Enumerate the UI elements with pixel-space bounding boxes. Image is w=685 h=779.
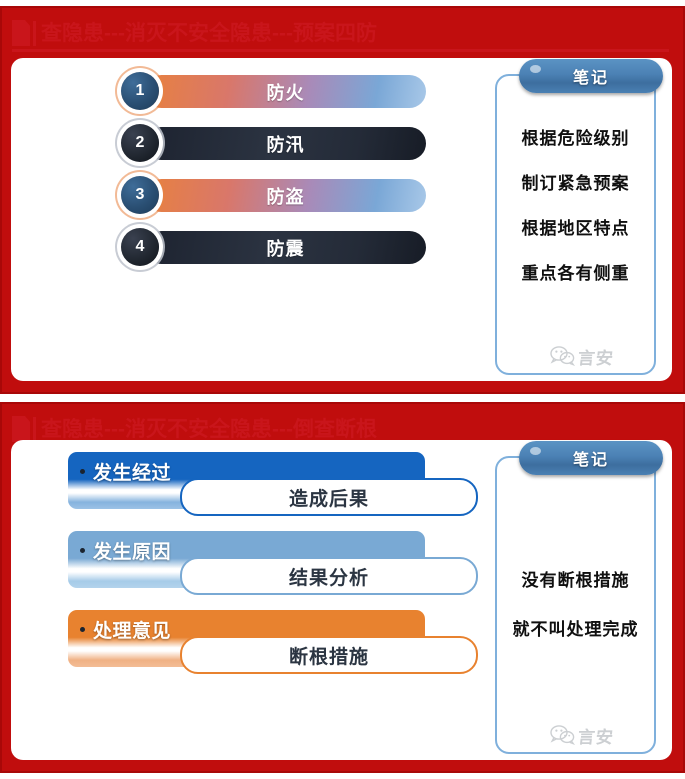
list-item[interactable]: 发生经过 造成后果 [68,452,478,520]
slide-1-title-row: 查隐患---消灭不安全隐患---预案四防 [12,16,669,50]
watermark-text: 言安 [577,723,616,748]
slide-1-content-card: 防火 1 防汛 2 防盗 3 [11,58,672,381]
item-front-pill[interactable]: 造成后果 [180,478,478,516]
notes-header-label: 笔记 [573,64,609,88]
title-divider-bar [33,417,36,442]
slide-2-title: 查隐患---消灭不安全隐患---倒查断根 [41,419,377,440]
list-item[interactable]: 处理意见 断根措施 [68,610,478,678]
notes-header-label: 笔记 [573,446,609,470]
item-pill: 防火 [145,75,426,108]
slide-deck-image: 查隐患---消灭不安全隐患---预案四防 防火 1 防汛 2 [0,0,685,779]
slide-2-notes-panel: 笔记 没有断根措施 就不叫处理完成 [495,456,656,754]
title-divider-bar [33,21,36,46]
list-item[interactable]: 防火 1 [121,72,426,110]
list-item[interactable]: 防盗 3 [121,176,426,214]
item-back-label: 发生经过 [93,458,171,485]
bullet-dot-icon [80,548,85,553]
pill-highlight [530,447,541,455]
item-number-badge: 3 [121,176,159,214]
document-flag-icon [12,416,30,442]
item-label: 防盗 [267,183,305,209]
item-front-pill[interactable]: 断根措施 [180,636,478,674]
slide-1-title: 查隐患---消灭不安全隐患---预案四防 [41,23,377,44]
item-front-pill[interactable]: 结果分析 [180,557,478,595]
slide-1-title-underline [12,49,669,52]
notes-header-pill: 笔记 [519,59,663,93]
slide-1-item-list: 防火 1 防汛 2 防盗 3 [121,72,426,280]
slide-2: 查隐患---消灭不安全隐患---倒查断根 发生经过 造成后果 [0,402,685,773]
bullet-dot-icon [80,469,85,474]
document-flag-icon [12,20,30,46]
slide-2-notes-lines: 没有断根措施 就不叫处理完成 [497,566,654,664]
item-number-badge: 4 [121,228,159,266]
item-number-badge: 2 [121,124,159,162]
item-back-label-group: 处理意见 [80,616,171,643]
item-number-badge: 1 [121,72,159,110]
wechat-icon [550,345,576,367]
item-front-label: 断根措施 [289,642,369,669]
item-label: 防火 [267,79,305,105]
item-pill: 防汛 [145,127,426,160]
notes-line: 没有断根措施 [497,566,654,591]
watermark-text: 言安 [577,344,616,369]
item-back-label: 发生原因 [93,537,171,564]
wechat-watermark: 言安 [550,720,646,750]
item-front-label: 结果分析 [289,563,369,590]
notes-line: 就不叫处理完成 [497,615,654,640]
item-back-label: 处理意见 [93,616,171,643]
notes-line: 根据地区特点 [497,214,654,239]
item-back-label-group: 发生原因 [80,537,171,564]
item-pill: 防震 [145,231,426,264]
notes-line: 根据危险级别 [497,124,654,149]
wechat-watermark: 言安 [550,341,646,371]
bullet-dot-icon [80,627,85,632]
item-back-label-group: 发生经过 [80,458,171,485]
notes-line: 重点各有侧重 [497,259,654,284]
slide-1: 查隐患---消灭不安全隐患---预案四防 防火 1 防汛 2 [0,6,685,394]
item-pill: 防盗 [145,179,426,212]
notes-line: 制订紧急预案 [497,169,654,194]
slide-2-content-card: 发生经过 造成后果 发生原因 结果分析 [11,440,672,760]
slide-2-item-list: 发生经过 造成后果 发生原因 结果分析 [68,452,478,689]
notes-header-pill: 笔记 [519,441,663,475]
list-item[interactable]: 防震 4 [121,228,426,266]
pill-highlight [530,65,541,73]
list-item[interactable]: 发生原因 结果分析 [68,531,478,599]
item-front-label: 造成后果 [289,484,369,511]
wechat-icon [550,724,576,746]
slide-1-notes-panel: 笔记 根据危险级别 制订紧急预案 根据地区特点 重点各有侧重 [495,74,656,375]
slide-1-notes-lines: 根据危险级别 制订紧急预案 根据地区特点 重点各有侧重 [497,124,654,304]
item-label: 防震 [267,235,305,261]
list-item[interactable]: 防汛 2 [121,124,426,162]
item-label: 防汛 [267,131,305,157]
